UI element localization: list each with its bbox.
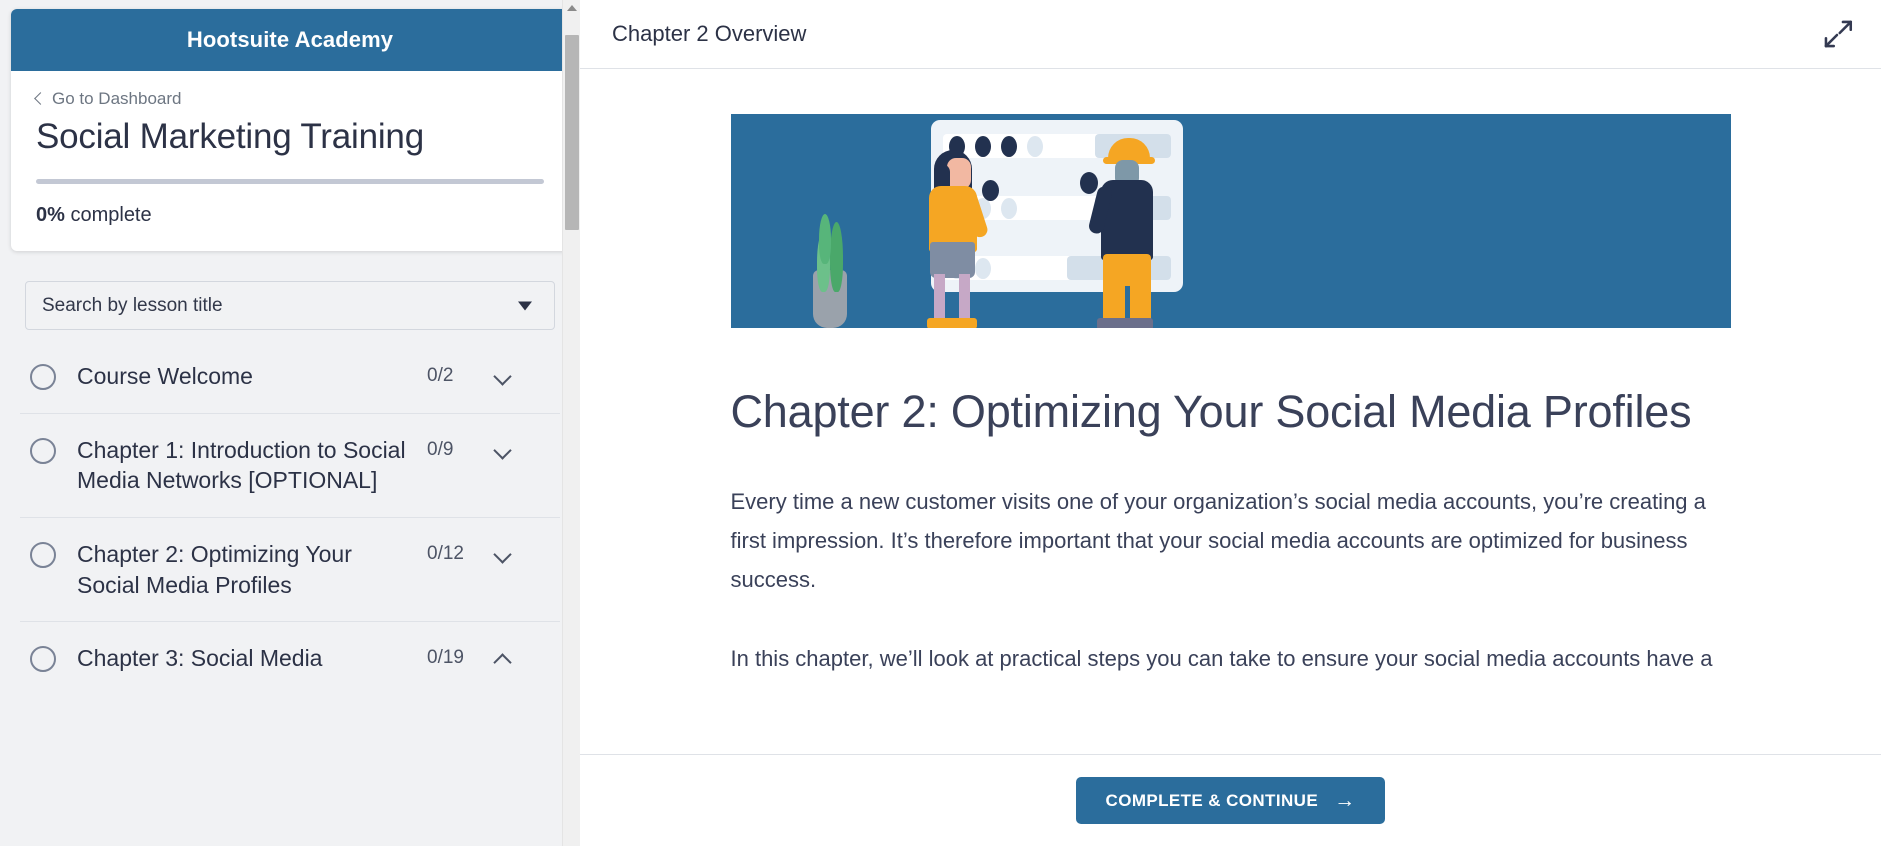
course-title: Social Marketing Training: [36, 117, 544, 157]
go-to-dashboard-link[interactable]: Go to Dashboard: [36, 89, 544, 109]
lesson-count: 0/19: [427, 647, 485, 669]
go-to-dashboard-label: Go to Dashboard: [52, 89, 181, 109]
lesson-article: Chapter 2: Optimizing Your Social Media …: [731, 69, 1731, 678]
expand-icon[interactable]: [1821, 17, 1855, 51]
course-progress-suffix: complete: [65, 204, 152, 226]
page-title: Chapter 2: Optimizing Your Social Media …: [731, 382, 1731, 442]
lesson-list: Course Welcome 0/2 Chapter 1: Introducti…: [20, 340, 560, 694]
course-card-body: Go to Dashboard Social Marketing Trainin…: [11, 71, 569, 251]
completion-circle-icon: [30, 646, 56, 672]
list-item[interactable]: Chapter 2: Optimizing Your Social Media …: [20, 518, 560, 622]
lesson-search-wrap: Search by lesson title: [25, 281, 555, 330]
brand-header: Hootsuite Academy: [11, 9, 569, 71]
lesson-footer: COMPLETE & CONTINUE →: [580, 754, 1881, 846]
completion-circle-icon: [30, 364, 56, 390]
completion-circle-icon: [30, 438, 56, 464]
chevron-down-icon[interactable]: [491, 542, 517, 568]
lesson-search-selected-text: Search by lesson title: [42, 295, 223, 317]
course-progress-value: 0%: [36, 204, 65, 226]
arrow-right-icon: →: [1334, 790, 1355, 811]
scroll-up-arrow-icon[interactable]: [567, 5, 577, 11]
lesson-count: 0/2: [427, 365, 485, 387]
lesson-title: Course Welcome: [77, 361, 427, 392]
article-paragraph-2: In this chapter, we’ll look at practical…: [731, 639, 1731, 678]
lesson-count: 0/9: [427, 439, 485, 461]
list-item[interactable]: Course Welcome 0/2: [20, 340, 560, 414]
complete-and-continue-button[interactable]: COMPLETE & CONTINUE →: [1076, 777, 1386, 824]
lesson-title: Chapter 3: Social Media: [77, 643, 427, 674]
lesson-search-select[interactable]: Search by lesson title: [25, 281, 555, 330]
breadcrumb: Chapter 2 Overview: [612, 21, 806, 47]
course-progress-label: 0% complete: [36, 204, 544, 227]
chevron-down-icon[interactable]: [491, 364, 517, 390]
lesson-scroll-area[interactable]: Chapter 2: Optimizing Your Social Media …: [580, 69, 1881, 754]
article-paragraph-1: Every time a new customer visits one of …: [731, 482, 1731, 599]
brand-title: Hootsuite Academy: [187, 27, 393, 53]
list-item[interactable]: Chapter 1: Introduction to Social Media …: [20, 414, 560, 518]
sidebar-scrollbar[interactable]: [562, 0, 580, 846]
chevron-up-icon[interactable]: [491, 646, 517, 672]
chevron-left-icon: [34, 92, 47, 105]
list-item[interactable]: Chapter 3: Social Media 0/19: [20, 622, 560, 695]
sidebar-scrollbar-thumb[interactable]: [565, 35, 579, 230]
course-sidebar: Hootsuite Academy Go to Dashboard Social…: [0, 0, 580, 846]
chevron-down-icon[interactable]: [491, 438, 517, 464]
lesson-topbar: Chapter 2 Overview: [580, 0, 1881, 69]
course-info-card: Hootsuite Academy Go to Dashboard Social…: [11, 9, 569, 251]
lesson-count: 0/12: [427, 543, 485, 565]
completion-circle-icon: [30, 542, 56, 568]
course-player-app: Hootsuite Academy Go to Dashboard Social…: [0, 0, 1881, 846]
complete-and-continue-label: COMPLETE & CONTINUE: [1106, 791, 1319, 811]
lesson-content-panel: Chapter 2 Overview: [580, 0, 1881, 846]
lesson-title: Chapter 1: Introduction to Social Media …: [77, 435, 427, 496]
chapter-hero-illustration: [731, 114, 1731, 328]
chevron-down-icon: [518, 301, 532, 310]
lesson-title: Chapter 2: Optimizing Your Social Media …: [77, 539, 427, 600]
course-progress-bar: [36, 179, 544, 184]
